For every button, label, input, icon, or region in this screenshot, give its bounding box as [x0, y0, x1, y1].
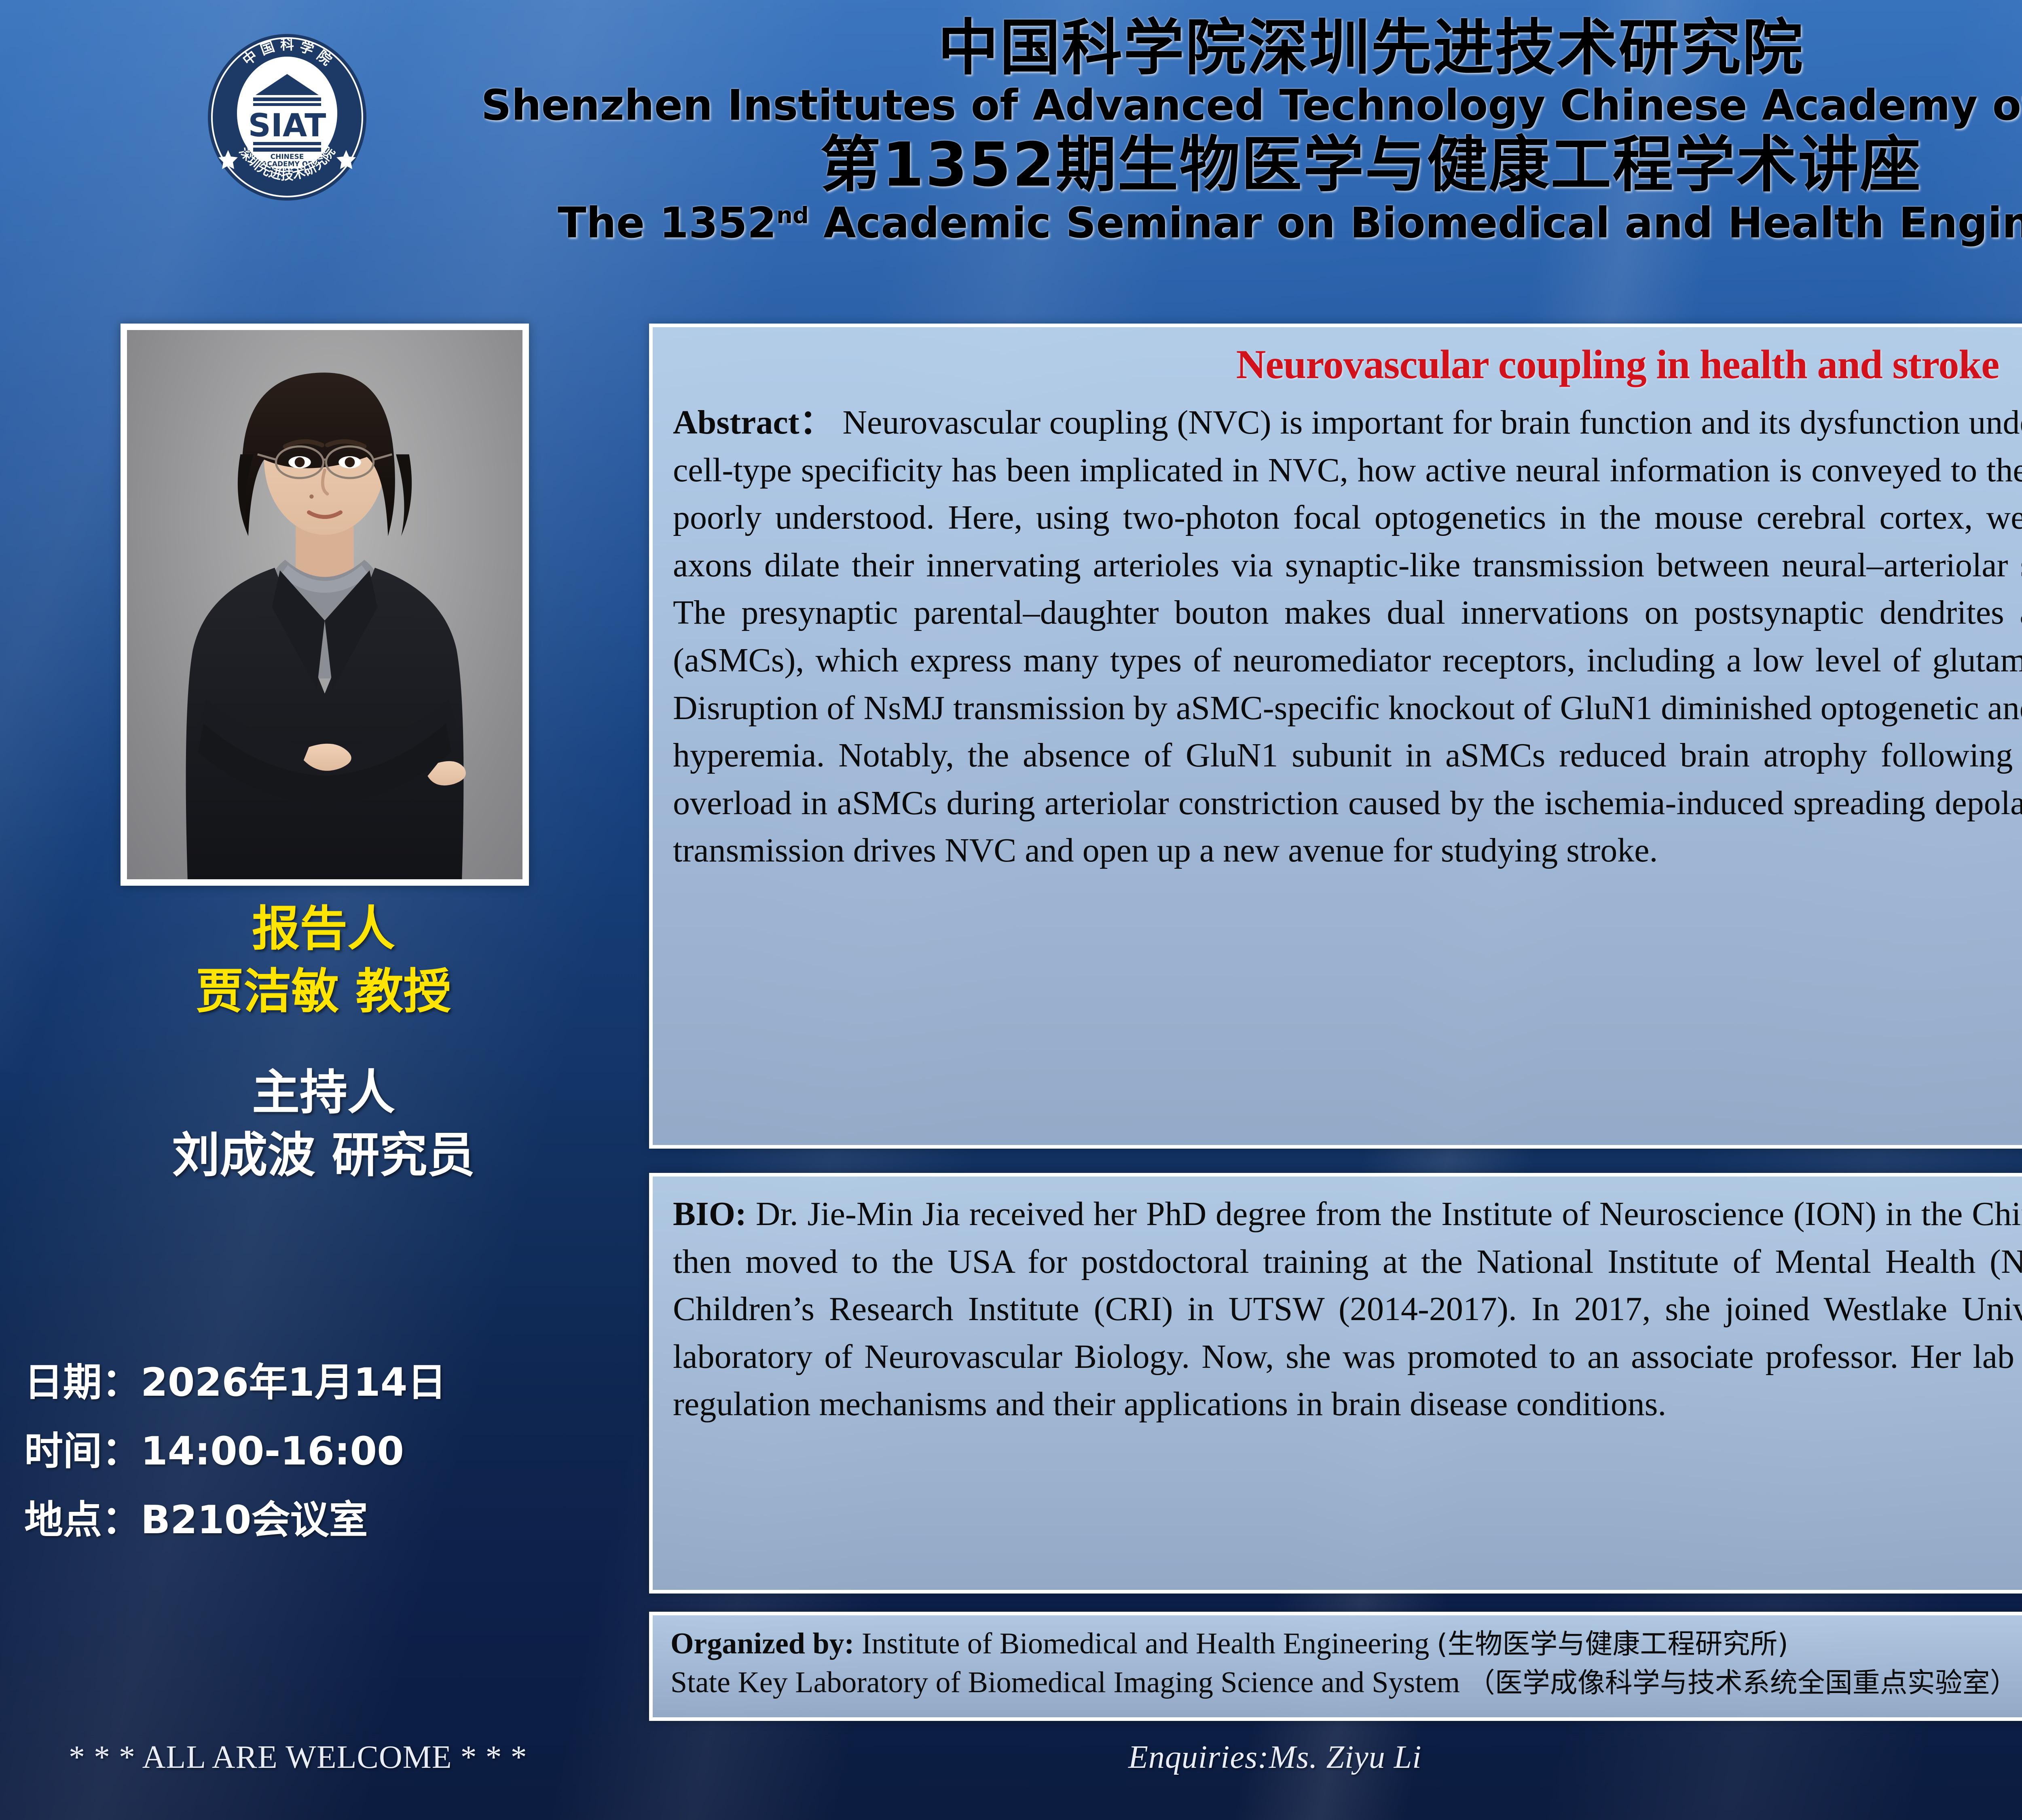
- organizer-institute-cn: (生物医学与健康工程研究所): [1437, 1628, 1788, 1660]
- organized-by-line-2: State Key Laboratory of Biomedical Imagi…: [670, 1663, 2022, 1702]
- event-date-value: 2026年1月14日: [141, 1360, 446, 1405]
- organized-by-line-1: Organized by: Institute of Biomedical an…: [670, 1624, 2022, 1663]
- welcome-note: * * * ALL ARE WELCOME * * *: [69, 1739, 527, 1776]
- bio-panel: BIO: Dr. Jie-Min Jia received her PhD de…: [649, 1173, 2022, 1594]
- event-time-value: 14:00-16:00: [141, 1428, 404, 1474]
- event-info-list: 日期：2026年1月14日 时间：14:00-16:00 地点：B210会议室: [24, 1363, 631, 1569]
- event-time-label: 时间：: [24, 1428, 141, 1474]
- event-location-row: 地点：B210会议室: [24, 1500, 631, 1539]
- event-location-value: B210会议室: [141, 1497, 368, 1543]
- abstract-body: Neurovascular coupling (NVC) is importan…: [673, 404, 2022, 869]
- abstract-label: Abstract：: [673, 404, 834, 441]
- host-label: 主持人: [0, 1066, 647, 1119]
- abstract-panel: Neurovascular coupling in health and str…: [649, 324, 2022, 1149]
- event-time-row: 时间：14:00-16:00: [24, 1432, 631, 1471]
- organizer-lab-cn: （医学成像科学与技术系统全国重点实验室）: [1468, 1667, 2018, 1699]
- speaker-photo-frame: [121, 324, 529, 886]
- poster-header: 中国科学院深圳先进技术研究院 Shenzhen Institutes of Ad…: [477, 16, 2022, 245]
- seminar-ordinal-suffix: nd: [776, 203, 809, 229]
- organized-by-label: Organized by:: [670, 1627, 854, 1660]
- organized-by-lines: Organized by: Institute of Biomedical an…: [653, 1615, 2022, 1702]
- organizer-lab-en: State Key Laboratory of Biomedical Imagi…: [670, 1666, 1468, 1699]
- seminar-poster: SIAT CHINESE ACADEMY OF SCIENCES 中 国 科 学…: [0, 0, 2022, 1820]
- speaker-name: 贾洁敏 教授: [0, 965, 647, 1018]
- event-location-label: 地点：: [24, 1497, 141, 1543]
- seminar-title-chinese: 第1352期生物医学与健康工程学术讲座: [477, 133, 2022, 197]
- institute-name-english: Shenzhen Institutes of Advanced Technolo…: [477, 83, 2022, 127]
- organized-by-panel: Organized by: Institute of Biomedical an…: [649, 1612, 2022, 1721]
- host-name: 刘成波 研究员: [0, 1128, 647, 1182]
- organizer-institute-en: Institute of Biomedical and Health Engin…: [854, 1627, 1437, 1660]
- svg-text:CHINESE: CHINESE: [271, 153, 304, 161]
- seminar-title-english: The 1352nd Academic Seminar on Biomedica…: [477, 201, 2022, 245]
- talk-title: Neurovascular coupling in health and str…: [653, 327, 2022, 399]
- seminar-title-english-post: Academic Seminar on Biomedical and Healt…: [809, 198, 2022, 248]
- event-date-label: 日期：: [24, 1360, 141, 1405]
- svg-text:SIAT: SIAT: [248, 108, 326, 144]
- siat-logo: SIAT CHINESE ACADEMY OF SCIENCES 中 国 科 学…: [202, 30, 372, 204]
- enquiries-contact: Enquiries:Ms. Ziyu Li: [1128, 1739, 1421, 1776]
- seminar-title-english-pre: The 1352: [558, 198, 776, 248]
- poster-footer: * * * ALL ARE WELCOME * * * Enquiries:Ms…: [0, 1739, 2022, 1796]
- speaker-photo: [127, 330, 522, 879]
- bio-label: BIO:: [673, 1195, 747, 1233]
- speaker-label: 报告人: [0, 902, 647, 955]
- abstract-text: Abstract： Neurovascular coupling (NVC) i…: [653, 399, 2022, 874]
- institute-name-chinese: 中国科学院深圳先进技术研究院: [477, 16, 2022, 80]
- bio-text: BIO: Dr. Jie-Min Jia received her PhD de…: [653, 1177, 2022, 1428]
- event-date-row: 日期：2026年1月14日: [24, 1363, 631, 1402]
- bio-body: Dr. Jie-Min Jia received her PhD degree …: [673, 1195, 2022, 1423]
